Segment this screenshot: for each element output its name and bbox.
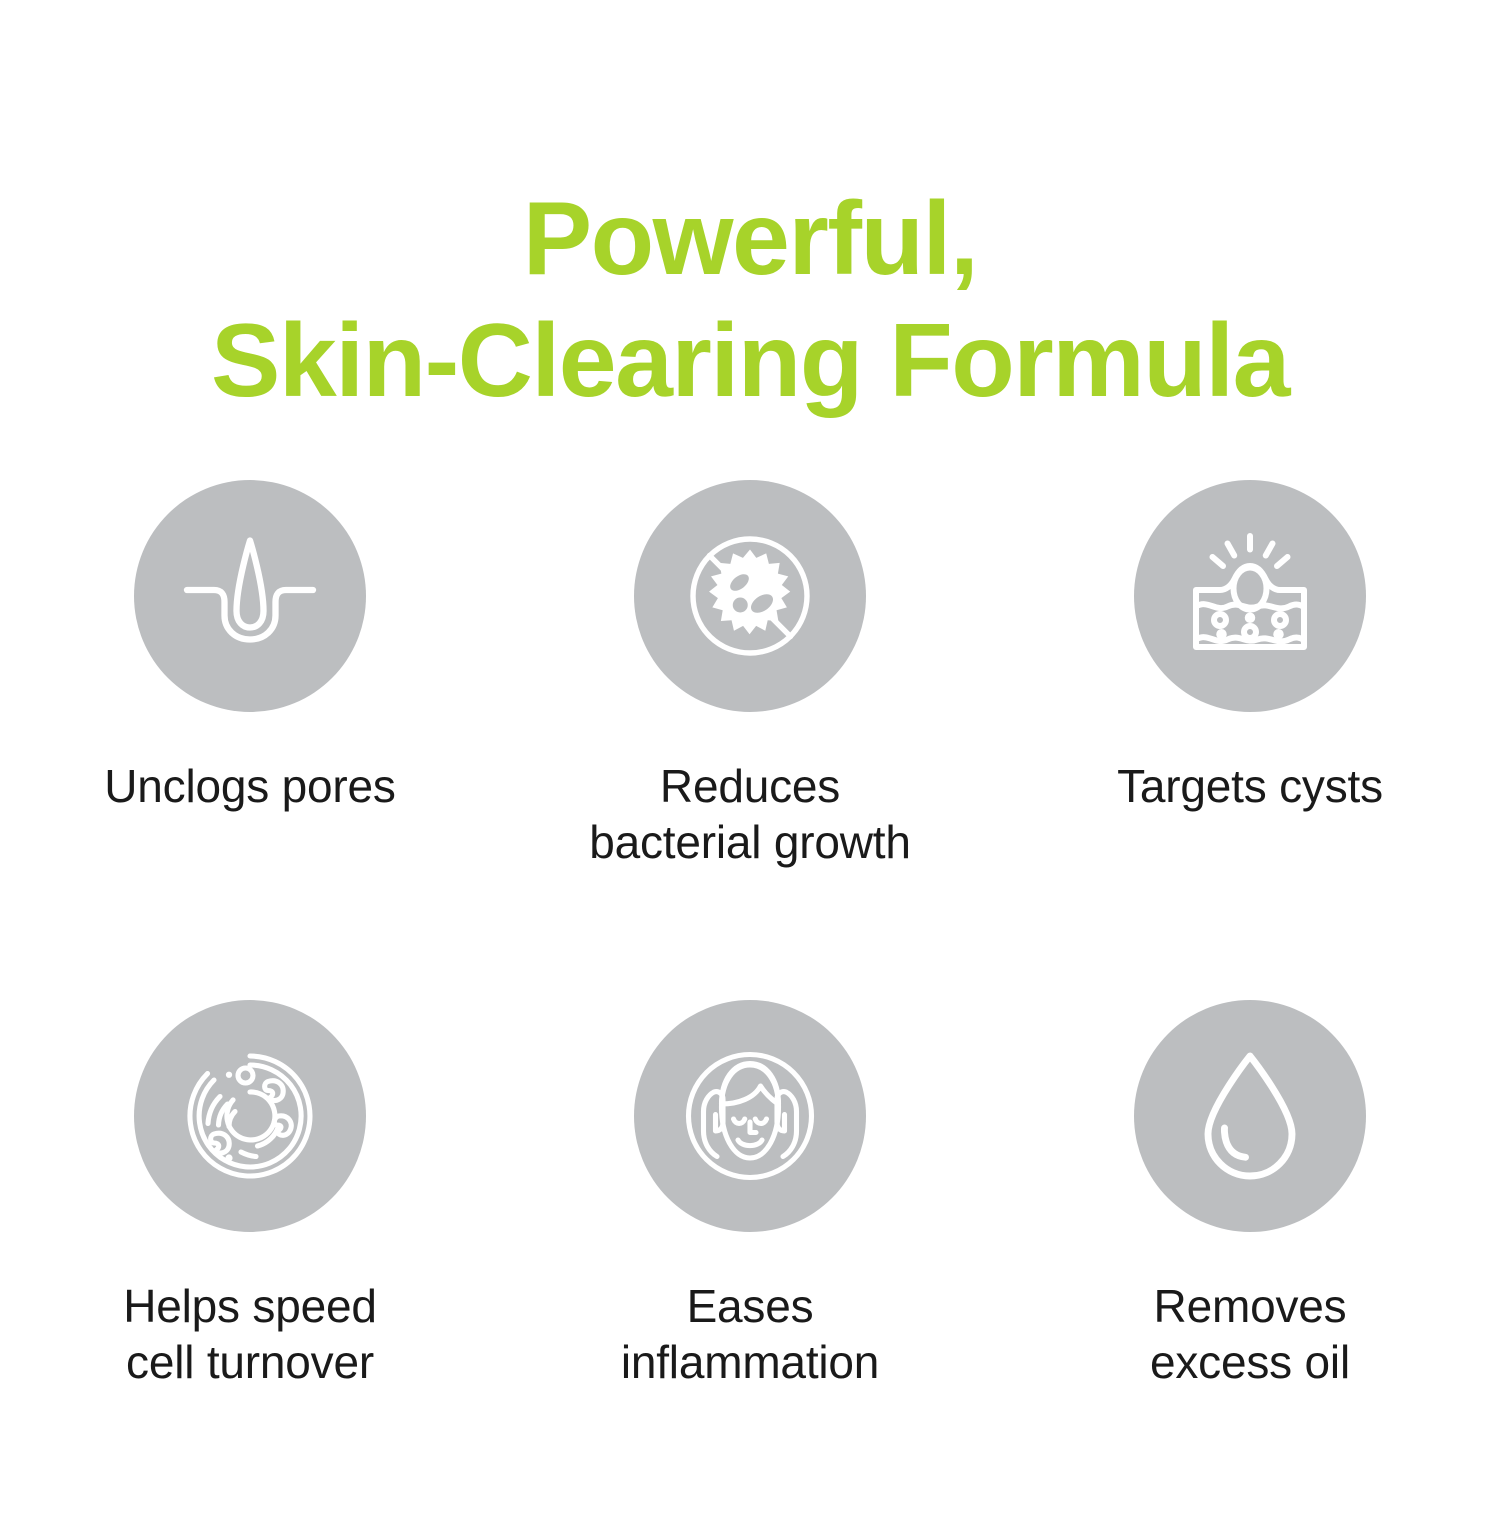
pore-follicle-icon [134,480,366,712]
benefit-caption: Helps speed cell turnover [123,1278,377,1390]
skin-cell-icon [134,1000,366,1232]
benefit-item-helps-speed-cell-turnover: Helps speed cell turnover [0,1000,500,1520]
page-title-line-1: Powerful, [0,178,1500,301]
skin-cyst-icon [1134,480,1366,712]
benefit-item-targets-cysts: Targets cysts [1000,480,1500,1000]
benefit-item-unclogs-pores: Unclogs pores [0,480,500,1000]
benefit-caption: Removes excess oil [1150,1278,1350,1390]
page-title: Powerful, Skin-Clearing Formula [0,178,1500,423]
oil-droplet-icon [1134,1000,1366,1232]
calm-face-massage-icon [634,1000,866,1232]
benefits-grid: Unclogs pores [0,480,1500,1520]
product-benefits-infographic: Powerful, Skin-Clearing Formula Unclogs … [0,0,1500,1500]
benefit-caption: Reduces bacterial growth [589,758,911,870]
benefit-item-eases-inflammation: Eases inflammation [500,1000,1000,1520]
benefit-caption: Eases inflammation [621,1278,879,1390]
benefit-item-reduces-bacterial-growth: Reduces bacterial growth [500,480,1000,1000]
benefit-caption: Targets cysts [1117,758,1383,814]
benefit-caption: Unclogs pores [104,758,395,814]
no-bacteria-icon [634,480,866,712]
benefit-item-removes-excess-oil: Removes excess oil [1000,1000,1500,1520]
page-title-line-2: Skin-Clearing Formula [0,300,1500,423]
